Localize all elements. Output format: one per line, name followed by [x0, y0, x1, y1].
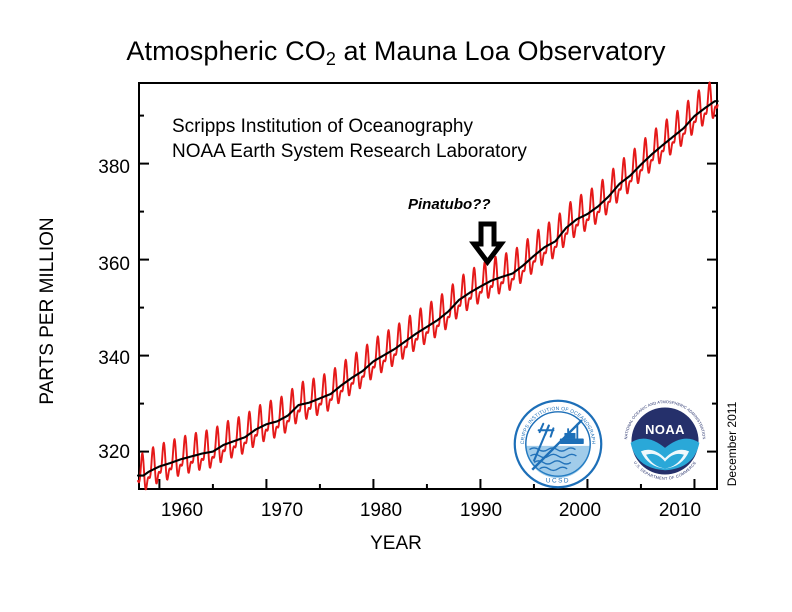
xtick-1970: 1970 [242, 500, 322, 522]
noaa-logo: NOAA NATIONAL OCEANIC AND ATMOSPHERIC AD… [622, 398, 708, 484]
ytick-360: 360 [70, 255, 130, 274]
xtick-1990: 1990 [441, 500, 521, 522]
xtick-1960: 1960 [142, 500, 222, 522]
xtick-2000: 2000 [540, 500, 620, 522]
title-prefix: Atmospheric CO [126, 36, 325, 66]
y-axis-tick-labels: 380 360 340 320 [62, 0, 130, 612]
xtick-1980: 1980 [341, 500, 421, 522]
ytick-320: 320 [70, 443, 130, 462]
scripps-logo-bottom-text: UCSD [546, 478, 570, 485]
attribution-line-scripps: Scripps Institution of Oceanography [172, 114, 527, 139]
noaa-logo-center-text: NOAA [645, 422, 685, 437]
title-suffix: at Mauna Loa Observatory [336, 36, 666, 66]
scripps-institution-logo: UCSD SCRIPPS INSTITUTION OF OCEANOGRAPHY [512, 398, 604, 490]
ytick-380: 380 [70, 158, 130, 177]
attribution-block: Scripps Institution of Oceanography NOAA… [172, 114, 527, 164]
pinatubo-annotation-label: Pinatubo?? [408, 196, 491, 213]
y-axis-title: PARTS PER MILLION [37, 201, 59, 421]
title-subscript: 2 [326, 49, 336, 69]
chart-canvas: Atmospheric CO2 at Mauna Loa Observatory… [0, 0, 792, 612]
attribution-line-noaa: NOAA Earth System Research Laboratory [172, 139, 527, 164]
x-axis-title: YEAR [0, 533, 792, 555]
date-stamp: December 2011 [725, 369, 739, 519]
xtick-2010: 2010 [640, 500, 720, 522]
ytick-340: 340 [70, 349, 130, 368]
